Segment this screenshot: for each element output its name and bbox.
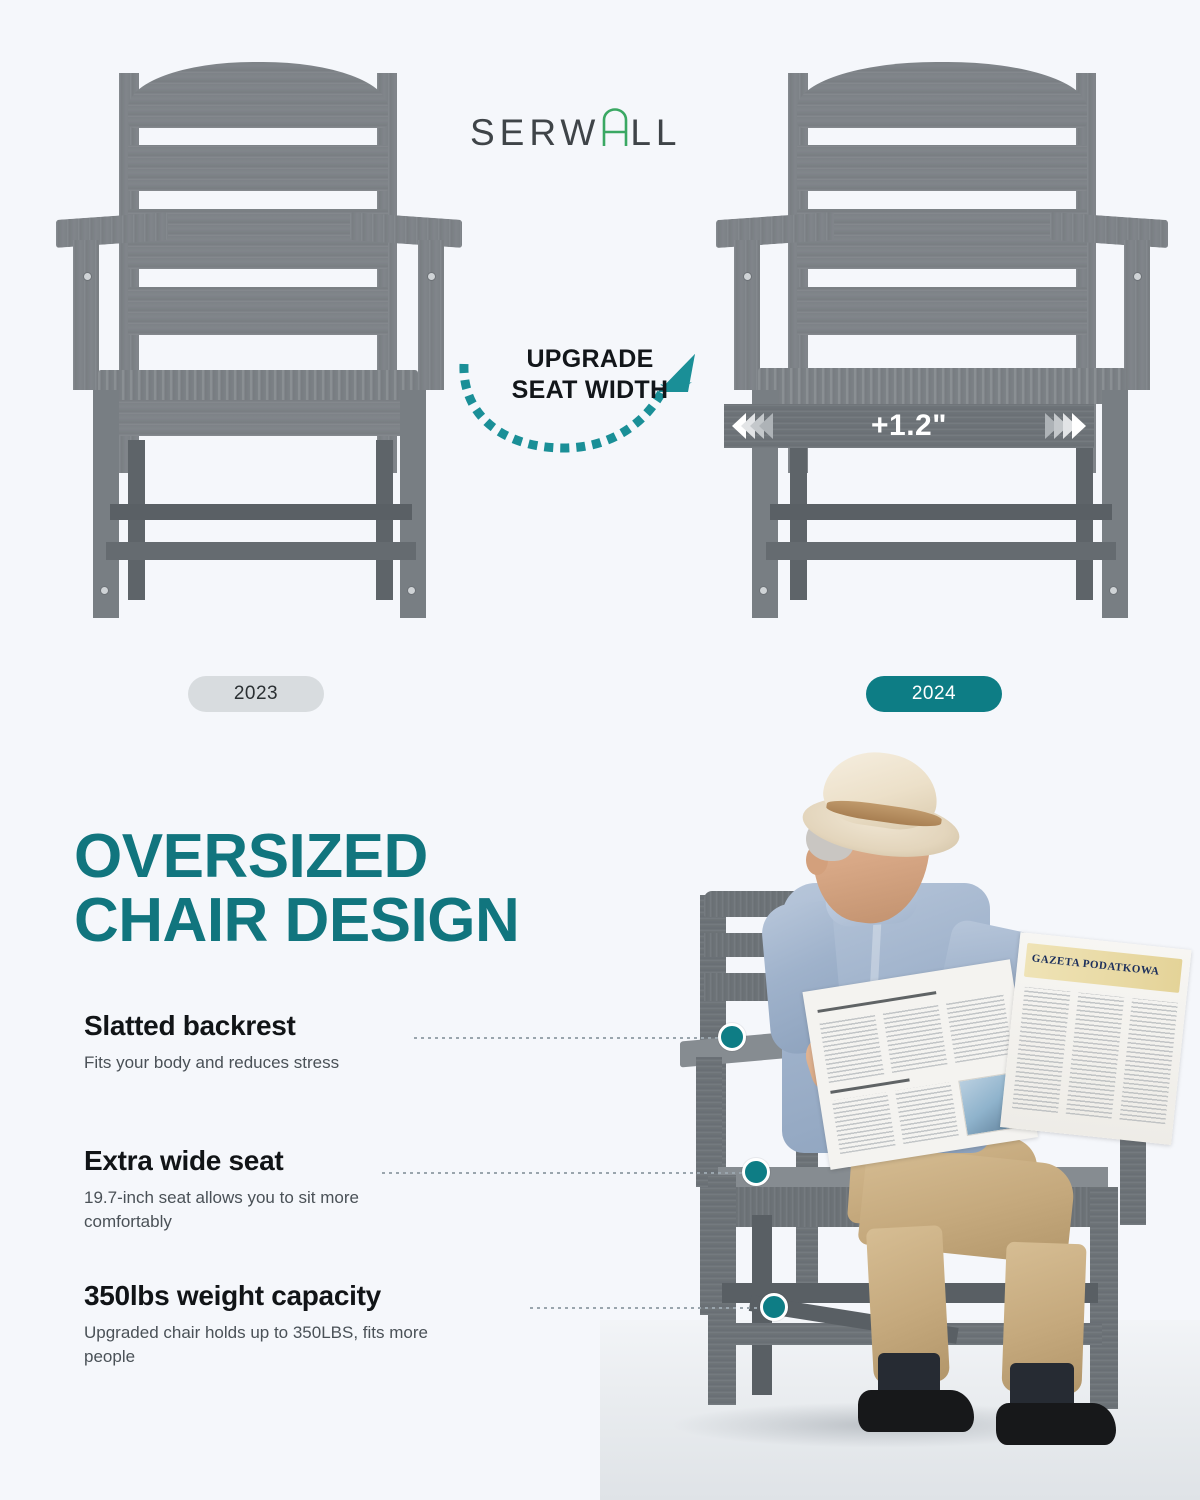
chair-2024-illustration	[680, 0, 1200, 660]
chair-stretcher-upper	[770, 504, 1112, 520]
feature-title: 350lbs weight capacity	[84, 1280, 554, 1312]
feature-item-weight-capacity: 350lbs weight capacity Upgraded chair ho…	[84, 1280, 554, 1369]
newspaper-text-column	[819, 1013, 884, 1083]
chair-seat-surface	[98, 370, 418, 402]
newspaper-text-column	[832, 1092, 896, 1154]
year-badge-2024-label: 2024	[912, 683, 956, 705]
chair-stretcher-lower	[766, 542, 1116, 560]
headline-line-1: OVERSIZED	[74, 825, 634, 889]
chair-seat-apron	[102, 400, 414, 436]
chair-arm-support-right	[1124, 240, 1150, 390]
chair-stretcher-upper	[110, 504, 412, 520]
chair-2023-illustration	[0, 0, 520, 660]
chair-a-icon	[600, 107, 630, 145]
hotspot-backrest[interactable]	[718, 1023, 746, 1051]
chair-arm-support-right	[418, 240, 444, 390]
chair-backrest-slat-1	[128, 145, 388, 191]
chair-armrest-screw-left	[743, 272, 752, 281]
year-badge-2023-label: 2023	[234, 683, 278, 705]
newspaper	[802, 959, 1038, 1170]
newspaper-right-page: GAZETA PODATKOWA	[1000, 932, 1192, 1145]
upgrade-callout-text: UPGRADE SEAT WIDTH	[490, 344, 690, 405]
chair-arm-support-left	[73, 240, 99, 390]
chair-leg-screw-left	[759, 586, 768, 595]
chair-armrest-screw-right	[427, 272, 436, 281]
connector-line-capacity	[530, 1307, 770, 1309]
person-shoe-left	[858, 1390, 974, 1432]
infographic-page: SERW LL	[0, 0, 1200, 1500]
brand-name-part2: LL	[630, 112, 681, 154]
hotspot-seat[interactable]	[742, 1158, 770, 1186]
chevron-left-icon	[759, 413, 773, 439]
person-shoe-right	[996, 1403, 1116, 1445]
upgrade-callout-line2: SEAT WIDTH	[490, 375, 690, 406]
comparison-section: SERW LL	[0, 0, 1200, 735]
chair-rear-leg-left	[128, 440, 145, 600]
feature-description: Upgraded chair holds up to 350LBS, fits …	[84, 1321, 464, 1369]
chair-leg-screw-right	[1109, 586, 1118, 595]
headline-line-2: CHAIR DESIGN	[74, 889, 634, 953]
chair-arm-support-left	[734, 240, 760, 390]
chair-stretcher-lower	[106, 542, 416, 560]
feature-description: 19.7-inch seat allows you to sit more co…	[84, 1186, 394, 1234]
hotspot-capacity[interactable]	[760, 1293, 788, 1321]
seat-width-measurement-bar: +1.2"	[724, 404, 1094, 448]
chair-backrest-slat-3	[128, 287, 388, 335]
chair-leg-screw-left	[100, 586, 109, 595]
connector-line-seat	[382, 1172, 764, 1174]
newspaper-text-column	[946, 993, 1013, 1063]
chair-backrest-slat-3	[797, 287, 1087, 335]
feature-description: Fits your body and reduces stress	[84, 1051, 554, 1075]
chair-armrest-screw-left	[83, 272, 92, 281]
feature-item-extra-wide-seat: Extra wide seat 19.7-inch seat allows yo…	[84, 1145, 554, 1234]
product-lifestyle-photo: GAZETA PODATKOWA	[600, 735, 1200, 1500]
chair-rear-leg-left	[790, 440, 807, 600]
chevron-right-icon	[1072, 413, 1086, 439]
page-title: OVERSIZED CHAIR DESIGN	[74, 825, 634, 954]
chair-armrest-screw-right	[1133, 272, 1142, 281]
newspaper-text-column	[1012, 987, 1071, 1113]
chair-leg-screw-right	[407, 586, 416, 595]
chair-seat-surface	[758, 368, 1126, 404]
upgrade-callout: UPGRADE SEAT WIDTH	[452, 330, 712, 460]
newspaper-text-column	[882, 1003, 947, 1073]
chevrons-left-group	[732, 404, 768, 448]
chair-backrest-slat-2	[797, 209, 1087, 269]
upgrade-callout-line1: UPGRADE	[490, 344, 690, 375]
newspaper-text-column	[1066, 992, 1125, 1118]
feature-item-slatted-backrest: Slatted backrest Fits your body and redu…	[84, 1010, 554, 1075]
chair-backrest-crown-slat	[128, 62, 388, 128]
features-section: OVERSIZED CHAIR DESIGN Slatted backrest …	[0, 735, 1200, 1500]
year-badge-2024: 2024	[866, 676, 1002, 712]
chair-backrest-crown-slat	[797, 62, 1087, 128]
newspaper-text-column	[895, 1082, 959, 1144]
connector-line-backrest	[414, 1037, 744, 1039]
seat-width-value: +1.2"	[871, 409, 947, 443]
chair-backrest-slat-1	[797, 145, 1087, 191]
year-badge-2023: 2023	[188, 676, 324, 712]
chair-rear-leg-right	[376, 440, 393, 600]
chair-rear-leg-right	[1076, 440, 1093, 600]
chevrons-right-group	[1050, 404, 1086, 448]
newspaper-text-column	[1119, 998, 1178, 1124]
